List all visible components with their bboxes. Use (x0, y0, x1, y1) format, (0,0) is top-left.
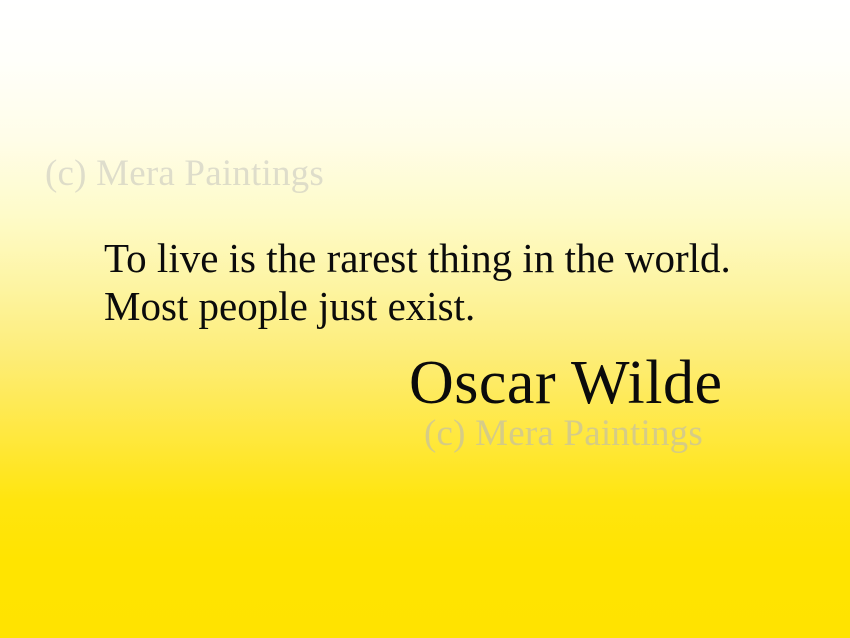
quote-line-2: Most people just exist. (104, 282, 804, 330)
quote-slide: (c) Mera Paintings To live is the rarest… (0, 0, 850, 638)
watermark-bottom: (c) Mera Paintings (424, 415, 703, 452)
quote-line-1: To live is the rarest thing in the world… (104, 234, 804, 282)
watermark-top: (c) Mera Paintings (45, 155, 324, 192)
quote-block: To live is the rarest thing in the world… (104, 234, 804, 330)
quote-attribution-author: Oscar Wilde (409, 352, 722, 414)
